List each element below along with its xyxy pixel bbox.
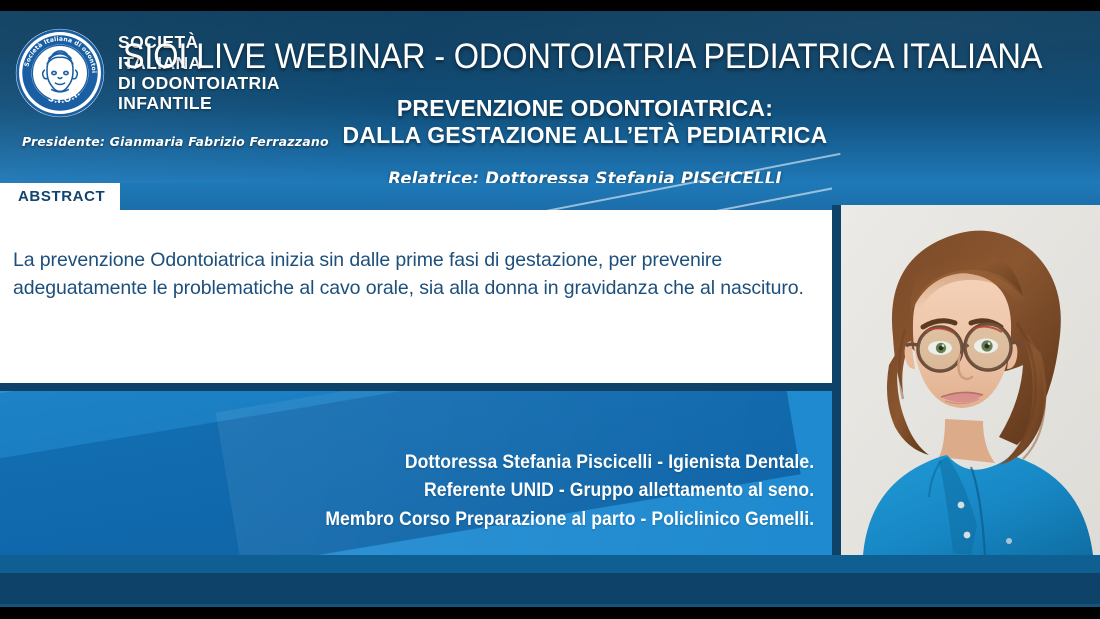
credentials-line-1: Dottoressa Stefania Piscicelli - Igienis…	[325, 448, 814, 476]
event-title: SIOI LIVE WEBINAR - ODONTOIATRIA PEDIATR…	[39, 37, 1062, 77]
footer-strip-dark	[0, 573, 1100, 607]
talk-title: PREVENZIONE ODONTOIATRICA: DALLA GESTAZI…	[0, 95, 1100, 149]
divider-rule	[0, 383, 832, 391]
speaker-line: Relatrice: Dottoressa Stefania PISCICELL…	[0, 169, 1100, 183]
abstract-card: La prevenzione Odontoiatrica inizia sin …	[0, 210, 832, 383]
letterbox-top	[0, 0, 1100, 11]
footer-strip-light	[0, 555, 1100, 573]
credentials-line-2: Referente UNID - Gruppo allettamento al …	[325, 476, 814, 504]
speaker-credentials-text: Dottoressa Stefania Piscicelli - Igienis…	[325, 448, 814, 533]
abstract-text: La prevenzione Odontoiatrica inizia sin …	[13, 246, 825, 303]
photo-left-gutter	[832, 205, 841, 555]
speaker-photo	[841, 205, 1100, 555]
tab-abstract[interactable]: ABSTRACT	[0, 183, 120, 210]
speaker-credentials-panel: Dottoressa Stefania Piscicelli - Igienis…	[0, 391, 832, 555]
slide-header: Società Italiana di odontoiatria Infanti…	[0, 11, 1100, 183]
credentials-line-3: Membro Corso Preparazione al parto - Pol…	[325, 505, 814, 533]
talk-title-line-2: DALLA GESTAZIONE ALL’ETÀ PEDIATRICA	[70, 122, 1100, 149]
talk-title-line-1: PREVENZIONE ODONTOIATRICA:	[70, 95, 1100, 122]
webinar-slide: Società Italiana di odontoiatria Infanti…	[0, 0, 1100, 619]
letterbox-bottom	[0, 607, 1100, 619]
tab-abstract-label: ABSTRACT	[0, 188, 105, 205]
